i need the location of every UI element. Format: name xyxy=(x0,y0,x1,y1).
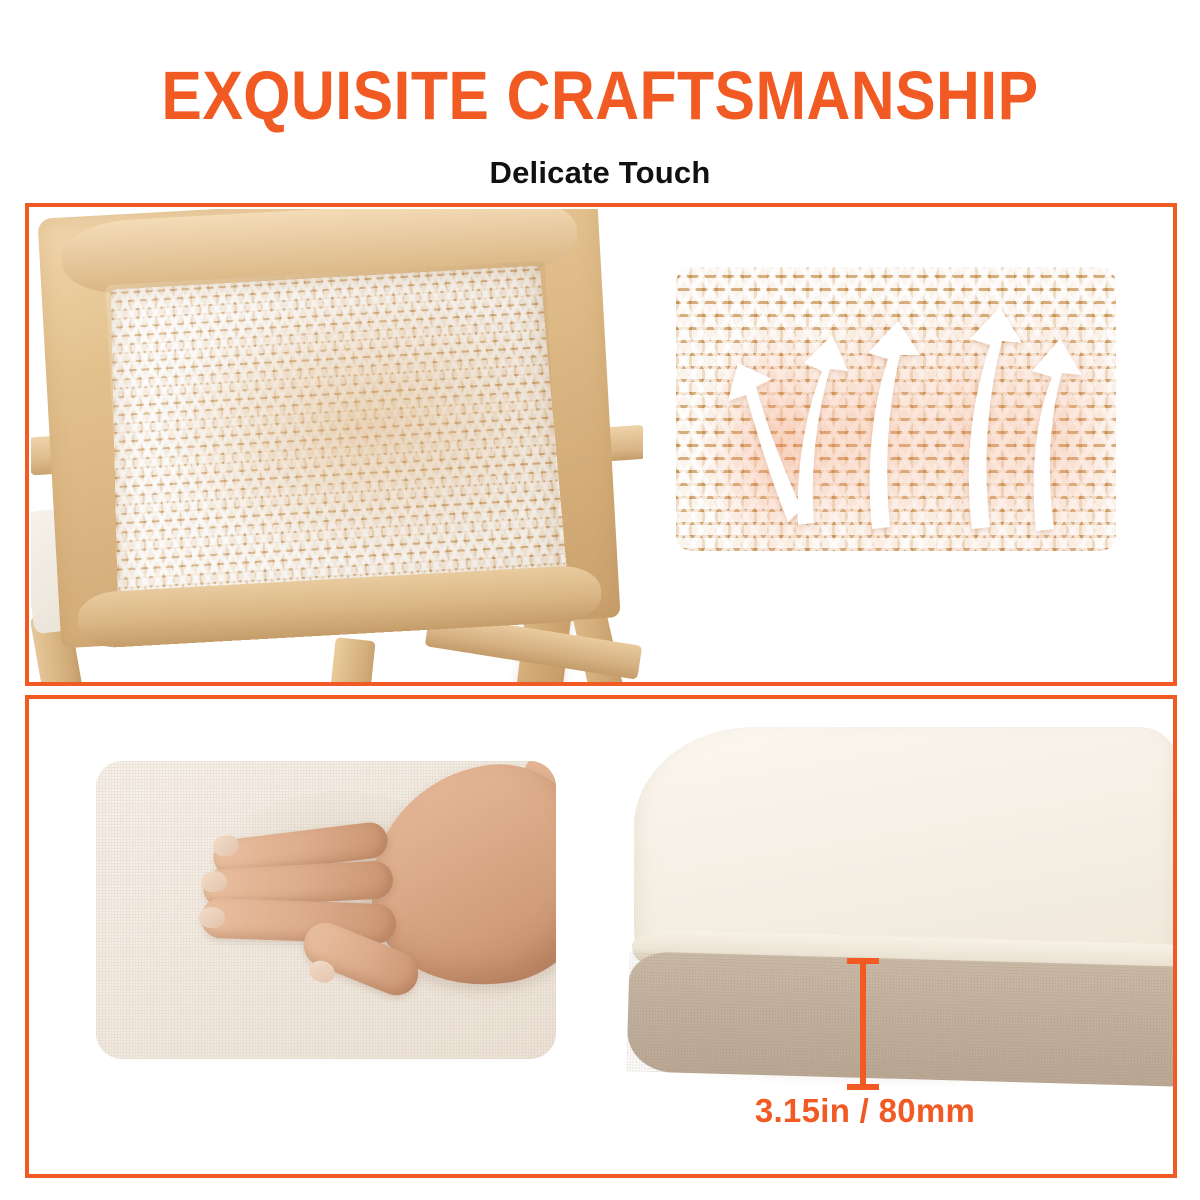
airflow-arrows-group xyxy=(676,267,1116,551)
chair-backrest-assembly xyxy=(37,209,620,648)
airflow-arrow-up-icon xyxy=(868,321,920,529)
rattan-backrest-panel: Handwoven Rattan Backrest Breathable and… xyxy=(25,203,1177,686)
cushion-thickness-label: 3.15in / 80mm xyxy=(740,1092,990,1130)
chair-front-leg xyxy=(326,637,375,684)
dimension-cap-bottom xyxy=(847,1084,879,1090)
airflow-arrow-up-icon xyxy=(969,307,1022,529)
airflow-arrow-up-icon xyxy=(728,363,802,522)
rattan-weave-closeup-photo xyxy=(676,267,1116,551)
dimension-cap-top xyxy=(847,958,879,964)
foam-cushion-panel: High-Resilience & High-Density Foam Seat… xyxy=(25,695,1177,1178)
chair-cane-shading xyxy=(105,261,562,605)
page-title: EXQUISITE CRAFTSMANSHIP xyxy=(72,61,1128,130)
product-feature-page: EXQUISITE CRAFTSMANSHIP Delicate Touch xyxy=(0,0,1200,1200)
hand xyxy=(151,761,556,1059)
cushion-drop-shadow xyxy=(644,1061,1174,1087)
page-subtitle: Delicate Touch xyxy=(0,155,1200,191)
airflow-arrow-up-icon xyxy=(798,335,848,525)
hand-pressing-foam-photo xyxy=(96,761,556,1059)
dimension-line xyxy=(860,958,866,1090)
header: EXQUISITE CRAFTSMANSHIP Delicate Touch xyxy=(0,0,1200,191)
airflow-arrow-up-icon xyxy=(1032,339,1082,531)
chair-backrest-photo xyxy=(31,209,643,684)
fingernail-ring xyxy=(199,907,226,929)
